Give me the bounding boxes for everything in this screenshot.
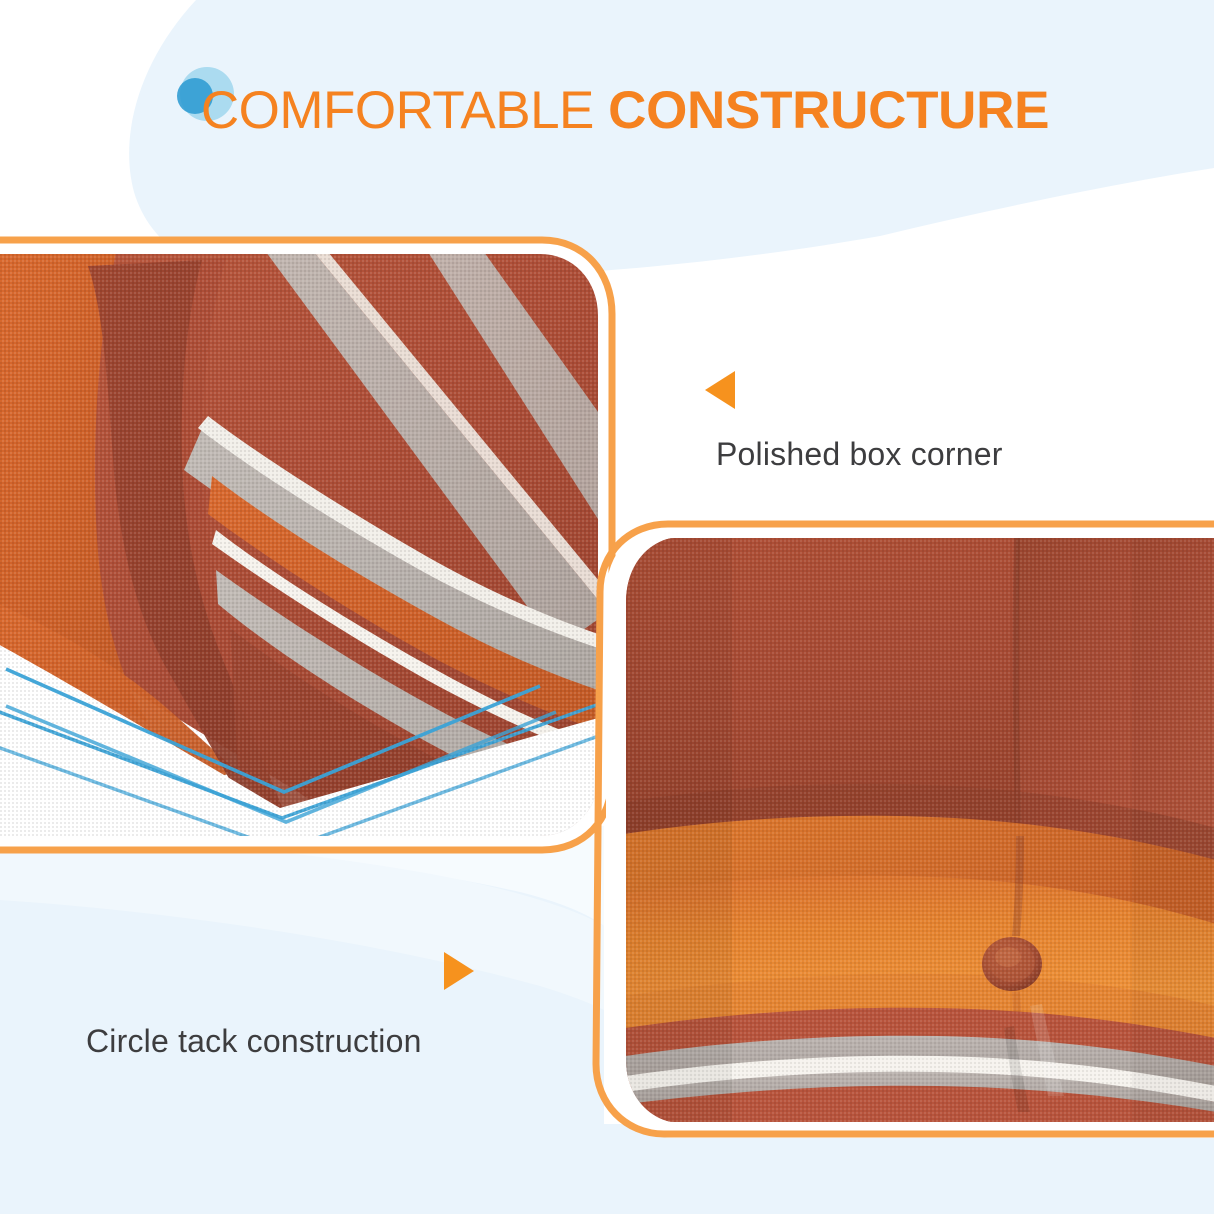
bottom-right-blue-background <box>604 1124 1214 1214</box>
triangle-left-icon <box>705 371 735 409</box>
circle-tack-artwork <box>612 536 1214 1124</box>
circle-tack-photo <box>612 536 1214 1124</box>
lower-left-blue-background <box>0 826 604 1214</box>
top-left-photo-panel <box>0 252 598 836</box>
lower-left-light-swoosh-2 <box>0 834 604 1010</box>
callout-polished-box-corner: Polished box corner <box>716 436 1003 473</box>
cushion-corner-photo <box>0 252 598 836</box>
infographic-canvas: COMFORTABLE CONSTRUCTURE <box>0 0 1214 1214</box>
lower-left-light-swoosh <box>0 826 604 926</box>
callout-circle-tack-construction: Circle tack construction <box>86 1023 422 1060</box>
bottom-strip-blue <box>0 1124 1214 1214</box>
triangle-right-icon <box>444 952 474 990</box>
title-bold-part: CONSTRUCTURE <box>608 81 1049 140</box>
bottom-right-photo-panel <box>612 536 1214 1124</box>
title-light-part: COMFORTABLE <box>201 81 594 140</box>
header-white-swoosh <box>0 0 268 282</box>
page-title: COMFORTABLE CONSTRUCTURE <box>0 84 1214 137</box>
cushion-corner-artwork <box>0 252 598 836</box>
